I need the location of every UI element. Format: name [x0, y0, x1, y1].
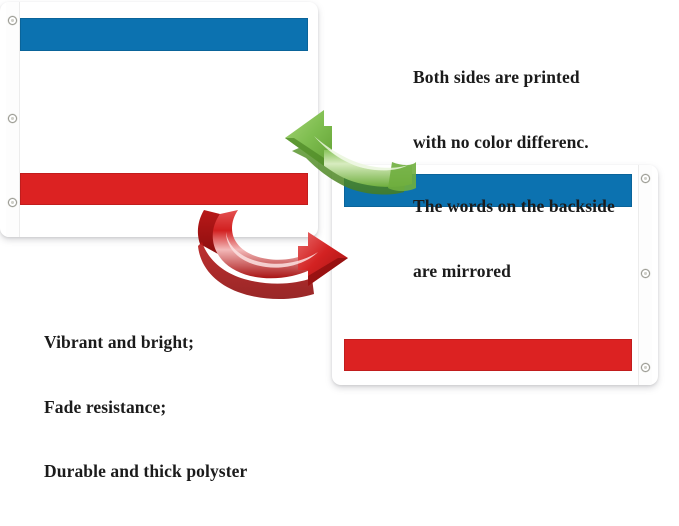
grommet-icon	[8, 198, 17, 207]
caption-material-features: Vibrant and bright; Fade resistance; Dur…	[44, 289, 247, 526]
caption-line: Vibrant and bright;	[44, 332, 247, 354]
caption-line: are mirrored	[413, 261, 615, 283]
caption-line: The words on the backside	[413, 196, 615, 218]
caption-line: Fade resistance;	[44, 397, 247, 419]
grommet-icon	[8, 114, 17, 123]
flag-front-blue-stripe	[20, 18, 308, 51]
green-arrow-tail	[388, 162, 416, 191]
grommet-icon	[8, 16, 17, 25]
caption-line: Durable and thick polyster	[44, 461, 247, 483]
grommet-icon	[641, 174, 650, 183]
caption-line: with no color differenc.	[413, 132, 615, 154]
caption-both-sides-printed: Both sides are printed with no color dif…	[413, 24, 615, 325]
caption-line: Both sides are printed	[413, 67, 615, 89]
flag-front-red-stripe	[20, 173, 308, 205]
product-illustration-stage: Both sides are printed with no color dif…	[0, 0, 679, 410]
grommet-icon	[641, 269, 650, 278]
green-curved-arrow-icon	[284, 96, 414, 201]
grommet-icon	[641, 363, 650, 372]
flag-back-red-stripe	[344, 339, 632, 371]
